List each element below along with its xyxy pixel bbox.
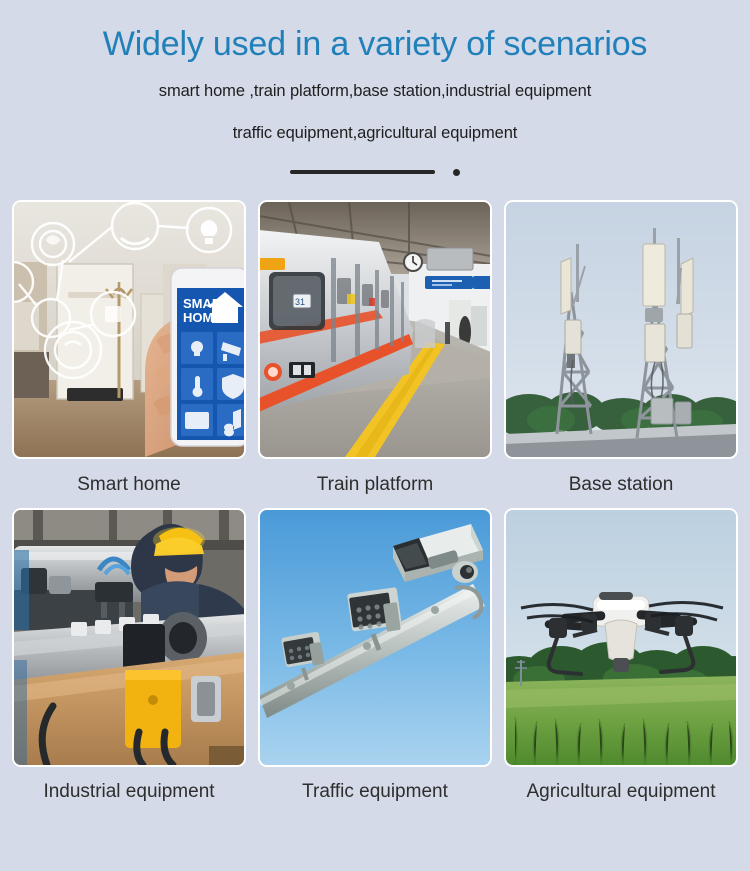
- caption-agricultural-equipment: Agricultural equipment: [526, 767, 715, 804]
- caption-industrial-equipment: Industrial equipment: [43, 767, 214, 804]
- scenario-cell-agricultural-equipment: Agricultural equipment: [504, 508, 738, 804]
- page-title: Widely used in a variety of scenarios: [0, 24, 750, 64]
- smart-home-illustration: SMART HOME: [14, 202, 244, 457]
- scenario-cell-train-platform: 31: [258, 200, 492, 508]
- card-industrial-equipment[interactable]: [12, 508, 246, 767]
- scenario-cell-traffic-equipment: Traffic equipment: [258, 508, 492, 804]
- card-train-platform[interactable]: 31: [258, 200, 492, 459]
- scenario-cell-base-station: Base station: [504, 200, 738, 508]
- scenario-cell-smart-home: SMART HOME: [12, 200, 246, 508]
- caption-traffic-equipment: Traffic equipment: [302, 767, 448, 804]
- card-agricultural-equipment[interactable]: [504, 508, 738, 767]
- industrial-equipment-illustration: [14, 510, 244, 765]
- agricultural-equipment-illustration: [506, 510, 736, 765]
- caption-base-station: Base station: [569, 459, 674, 508]
- inactive-indicator-dot[interactable]: [453, 169, 460, 176]
- subtitle-line-2: traffic equipment,agricultural equipment: [0, 122, 750, 144]
- subtitle-line-1: smart home ,train platform,base station,…: [0, 80, 750, 102]
- base-station-illustration: [506, 202, 736, 457]
- caption-smart-home: Smart home: [77, 459, 180, 508]
- train-platform-illustration: 31: [260, 202, 490, 457]
- page-header: Widely used in a variety of scenarios sm…: [0, 0, 750, 144]
- card-base-station[interactable]: [504, 200, 738, 459]
- scenario-card-grid: SMART HOME: [0, 200, 750, 804]
- svg-text:31: 31: [295, 297, 305, 307]
- traffic-equipment-illustration: [260, 510, 490, 765]
- card-traffic-equipment[interactable]: [258, 508, 492, 767]
- carousel-pagination[interactable]: [0, 166, 750, 178]
- card-smart-home[interactable]: SMART HOME: [12, 200, 246, 459]
- scenarios-page: Widely used in a variety of scenarios sm…: [0, 0, 750, 871]
- active-indicator-bar[interactable]: [290, 170, 435, 174]
- caption-train-platform: Train platform: [317, 459, 434, 508]
- scenario-cell-industrial-equipment: Industrial equipment: [12, 508, 246, 804]
